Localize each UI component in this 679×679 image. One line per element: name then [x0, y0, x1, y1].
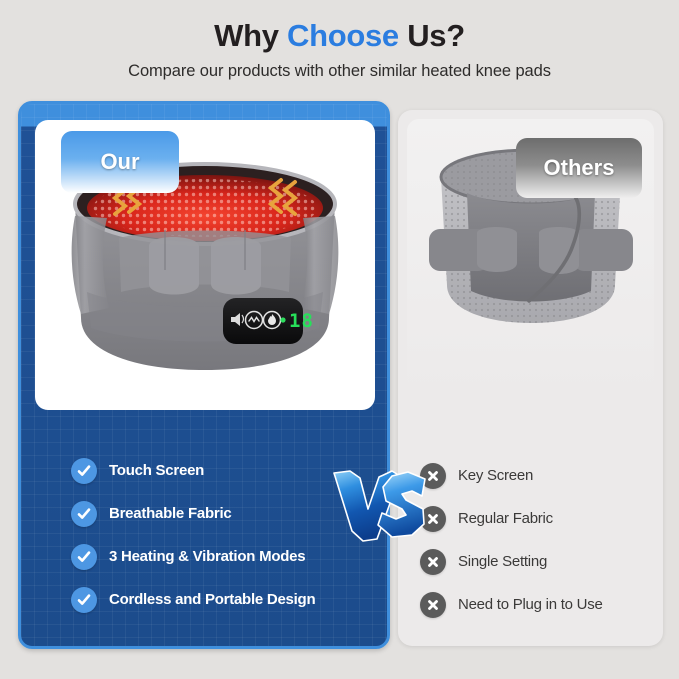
our-badge-label: Our [100, 149, 139, 175]
our-panel: 18 Our Touch Screen Breathable Fabric [18, 101, 390, 649]
list-item: Breathable Fabric [71, 492, 371, 535]
page-header: Why Choose Us? Compare our products with… [0, 0, 679, 81]
check-icon [71, 501, 97, 527]
feature-label: Single Setting [458, 553, 547, 570]
others-feature-list: Key Screen Regular Fabric Single Setting… [420, 454, 656, 626]
control-panel: 18 [223, 298, 314, 344]
feature-label: Breathable Fabric [109, 505, 231, 522]
title-text-after: Us? [399, 18, 465, 53]
list-item: Need to Plug in to Use [420, 583, 656, 626]
title-text-accent: Choose [287, 18, 399, 53]
x-icon [420, 592, 446, 618]
feature-label: Key Screen [458, 467, 533, 484]
check-icon [71, 587, 97, 613]
others-badge-label: Others [544, 155, 615, 181]
feature-label: Touch Screen [109, 462, 204, 479]
check-icon [71, 544, 97, 570]
check-icon [71, 458, 97, 484]
x-icon [420, 549, 446, 575]
list-item: Regular Fabric [420, 497, 656, 540]
feature-label: 3 Heating & Vibration Modes [109, 548, 305, 565]
our-feature-list: Touch Screen Breathable Fabric 3 Heating… [71, 449, 371, 621]
others-badge: Others [516, 138, 642, 198]
comparison-panels: 18 Our Touch Screen Breathable Fabric [0, 101, 679, 661]
others-panel: Others Key Screen Regular Fabric Single … [398, 110, 663, 646]
list-item: Single Setting [420, 540, 656, 583]
list-item: Cordless and Portable Design [71, 578, 371, 621]
temperature-display: 18 [289, 310, 314, 332]
power-dot-icon [280, 317, 285, 322]
list-item: 3 Heating & Vibration Modes [71, 535, 371, 578]
feature-label: Need to Plug in to Use [458, 596, 603, 613]
feature-label: Cordless and Portable Design [109, 591, 315, 608]
feature-label: Regular Fabric [458, 510, 553, 527]
page-subtitle: Compare our products with other similar … [0, 62, 679, 81]
our-badge: Our [61, 131, 179, 193]
title-text-before: Why [214, 18, 287, 53]
list-item: Touch Screen [71, 449, 371, 492]
page-title: Why Choose Us? [0, 18, 679, 54]
list-item: Key Screen [420, 454, 656, 497]
vs-emblem: VS [330, 469, 430, 543]
